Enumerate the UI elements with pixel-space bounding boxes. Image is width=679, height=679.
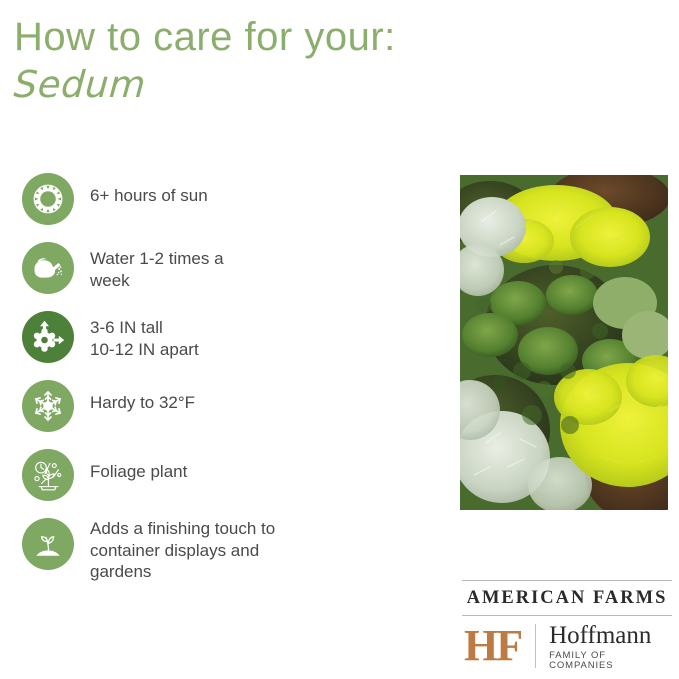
care-item-label: 3-6 IN tall 10-12 IN apart [90,310,199,360]
care-item-sun: 6+ hours of sun [22,172,422,230]
plant-name: Sedum [12,62,535,108]
care-item-label: Hardy to 32°F [90,379,195,414]
care-instructions-list: 6+ hours of sun Water 1-2 times a week [22,172,422,594]
care-item-use: Adds a finishing touch to container disp… [22,517,422,583]
care-item-foliage: Foliage plant [22,448,422,506]
care-item-label: 6+ hours of sun [90,172,208,207]
care-item-water: Water 1-2 times a week [22,241,422,299]
care-item-label: Foliage plant [90,448,187,483]
logo-divider [535,624,536,668]
care-item-hardiness: Hardy to 32°F [22,379,422,437]
company-name: Hoffmann [549,622,672,649]
spacing-icon [22,311,74,363]
page-title: How to care for your: [14,14,534,60]
hf-monogram-icon: HF [464,624,521,668]
brand-name: AMERICAN FARMS [462,581,672,615]
logo-lower-row: HF Hoffmann FAMILY OF COMPANIES [462,616,672,670]
plant-photo [460,175,668,510]
sun-icon [22,173,74,225]
title-block: How to care for your: Sedum [14,14,534,108]
care-item-size-spacing: 3-6 IN tall 10-12 IN apart [22,310,422,368]
logo-block: AMERICAN FARMS HF Hoffmann FAMILY OF COM… [462,580,672,670]
snowflake-icon [22,380,74,432]
seedling-icon [22,518,74,570]
care-item-label: Water 1-2 times a week [90,241,224,291]
watering-can-icon [22,242,74,294]
logo-names: Hoffmann FAMILY OF COMPANIES [549,622,672,670]
foliage-icon [22,449,74,501]
care-item-label: Adds a finishing touch to container disp… [90,517,275,583]
company-tagline: FAMILY OF COMPANIES [549,651,672,670]
